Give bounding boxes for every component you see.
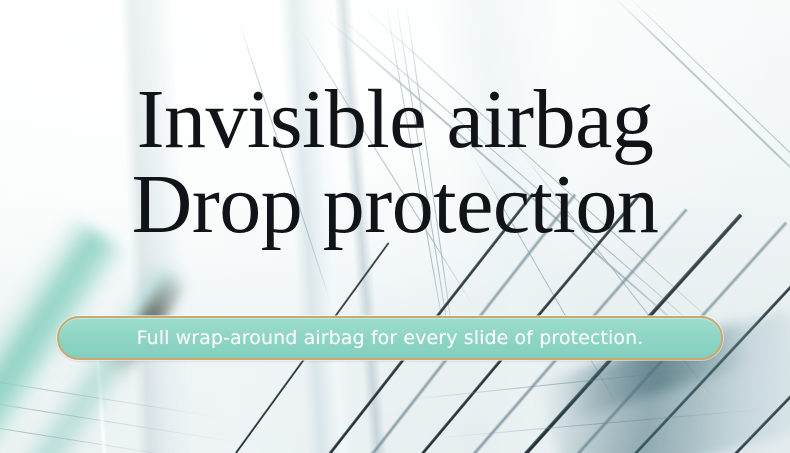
- headline: Invisible airbag Drop protection: [0, 78, 790, 246]
- subtitle-text: Full wrap-around airbag for every slide …: [137, 327, 644, 349]
- product-hero-banner: Invisible airbag Drop protection Full wr…: [0, 0, 790, 453]
- subtitle-pill: Full wrap-around airbag for every slide …: [57, 316, 723, 360]
- headline-line-2: Drop protection: [0, 163, 790, 246]
- headline-line-1: Invisible airbag: [0, 78, 790, 161]
- banner-content: Invisible airbag Drop protection Full wr…: [0, 0, 790, 453]
